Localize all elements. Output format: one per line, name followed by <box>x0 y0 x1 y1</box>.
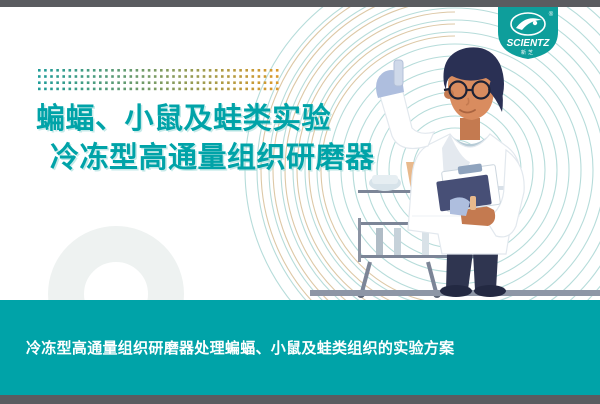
dot-grid-cell <box>264 88 267 91</box>
dot-grid-cell <box>62 75 65 78</box>
dot-grid-cell <box>111 81 114 84</box>
dot-grid-cell <box>239 75 242 78</box>
dot-grid-cell <box>142 81 145 84</box>
dot-grid-cell <box>178 81 181 84</box>
dot-grid-cell <box>142 69 145 72</box>
bottom-chrome-bar <box>0 395 600 404</box>
dot-grid-cell <box>50 88 53 91</box>
dot-grid-cell <box>154 75 157 78</box>
dot-grid-cell <box>136 88 139 91</box>
dot-grid-cell <box>81 88 84 91</box>
top-chrome-bar <box>0 0 600 7</box>
dot-grid-cell <box>142 75 145 78</box>
dot-grid-cell <box>178 69 181 72</box>
dot-grid-cell <box>93 81 96 84</box>
dot-grid-cell <box>142 88 145 91</box>
dot-grid-cell <box>50 69 53 72</box>
dot-grid-cell <box>154 69 157 72</box>
dot-grid-cell <box>160 75 163 78</box>
dot-grid-cell <box>111 88 114 91</box>
dot-grid-cell <box>276 69 279 72</box>
dot-grid-cell <box>75 88 78 91</box>
dot-grid-cell <box>178 75 181 78</box>
dot-grid-cell <box>44 81 47 84</box>
dot-grid-cell <box>172 75 175 78</box>
dot-grid-cell <box>50 75 53 78</box>
dot-grid-cell <box>227 88 230 91</box>
dot-grid-cell <box>136 69 139 72</box>
dot-grid-cell <box>166 88 169 91</box>
dot-grid-cell <box>209 69 212 72</box>
dot-grid-cell <box>130 75 133 78</box>
dot-grid-cell <box>191 69 194 72</box>
dot-grid-cell <box>166 69 169 72</box>
cart-leg-left <box>362 262 370 292</box>
dot-grid-cell <box>75 69 78 72</box>
vial-2 <box>394 228 401 255</box>
dot-grid-cell <box>191 88 194 91</box>
dot-grid-cell <box>81 81 84 84</box>
dot-grid-cell <box>221 69 224 72</box>
dot-grid-cell <box>75 75 78 78</box>
dot-grid-cell <box>209 81 212 84</box>
dot-grid <box>38 69 282 95</box>
dot-grid-cell <box>44 69 47 72</box>
banner-caption: 冷冻型高通量组织研磨器处理蝙蝠、小鼠及蛙类组织的实验方案 <box>0 337 454 358</box>
dot-grid-cell <box>130 69 133 72</box>
dot-grid-cell <box>215 69 218 72</box>
dot-grid-cell <box>56 75 59 78</box>
dot-grid-cell <box>270 81 273 84</box>
dot-grid-cell <box>215 75 218 78</box>
headline-line-2: 冷冻型高通量组织研磨器 <box>50 139 375 178</box>
dot-grid-cell <box>166 81 169 84</box>
dot-grid-cell <box>69 88 72 91</box>
dot-grid-cell <box>197 81 200 84</box>
dot-grid-cell <box>148 69 151 72</box>
dot-grid-cell <box>203 88 206 91</box>
dot-grid-cell <box>252 81 255 84</box>
dot-grid-cell <box>270 75 273 78</box>
dot-grid-cell <box>99 81 102 84</box>
dot-grid-cell <box>38 81 41 84</box>
dot-grid-cell <box>197 69 200 72</box>
page-title: 蝙蝠、小鼠及蛙类实验 冷冻型高通量组织研磨器 <box>36 100 375 178</box>
dot-grid-cell <box>87 75 90 78</box>
dot-grid-cell <box>56 88 59 91</box>
dot-grid-cell <box>123 88 126 91</box>
dot-grid-cell <box>160 88 163 91</box>
dot-grid-cell <box>245 75 248 78</box>
dot-grid-cell <box>136 81 139 84</box>
logo-registered-mark: ® <box>549 11 554 18</box>
logo-wordmark: SCIENTZ <box>507 38 551 49</box>
dot-grid-cell <box>93 88 96 91</box>
dot-grid-cell <box>62 81 65 84</box>
dot-grid-cell <box>197 88 200 91</box>
dot-grid-cell <box>117 75 120 78</box>
dot-grid-cell <box>105 75 108 78</box>
dot-grid-cell <box>62 88 65 91</box>
dot-grid-cell <box>252 88 255 91</box>
dot-grid-cell <box>276 81 279 84</box>
dot-grid-cell <box>203 69 206 72</box>
dot-grid-cell <box>184 75 187 78</box>
dot-grid-cell <box>99 88 102 91</box>
dish-lid <box>372 175 398 184</box>
dot-grid-cell <box>258 88 261 91</box>
dot-grid-cell <box>221 81 224 84</box>
dot-grid-cell <box>252 75 255 78</box>
dot-grid-cell <box>111 75 114 78</box>
dot-grid-cell <box>105 88 108 91</box>
headline-line-1: 蝙蝠、小鼠及蛙类实验 <box>36 100 375 139</box>
dot-grid-cell <box>227 75 230 78</box>
dot-grid-cell <box>56 69 59 72</box>
dot-grid-cell <box>105 81 108 84</box>
dot-grid-cell <box>184 88 187 91</box>
dot-grid-cell <box>99 69 102 72</box>
dot-grid-cell <box>270 88 273 91</box>
dot-grid-cell <box>75 81 78 84</box>
dot-grid-cell <box>172 88 175 91</box>
dot-grid-cell <box>87 69 90 72</box>
dot-grid-cell <box>172 69 175 72</box>
dot-grid-cell <box>111 69 114 72</box>
dot-grid-cell <box>81 75 84 78</box>
shoe-right <box>474 285 506 297</box>
dot-grid-cell <box>87 81 90 84</box>
dot-grid-cell <box>203 75 206 78</box>
dot-grid-cell <box>258 75 261 78</box>
dot-grid-cell <box>44 75 47 78</box>
dot-grid-cell <box>99 75 102 78</box>
dot-grid-cell <box>270 69 273 72</box>
dot-grid-cell <box>264 75 267 78</box>
scientist-figure <box>376 47 524 297</box>
dot-grid-cell <box>123 69 126 72</box>
dot-grid-cell <box>252 69 255 72</box>
dot-grid-cell <box>117 88 120 91</box>
vial-1 <box>376 228 383 255</box>
dot-grid-cell <box>239 69 242 72</box>
dot-grid-cell <box>172 81 175 84</box>
dot-grid-cell <box>221 75 224 78</box>
dot-grid-cell <box>233 69 236 72</box>
dot-grid-cell <box>191 75 194 78</box>
dot-grid-cell <box>178 88 181 91</box>
dot-grid-cell <box>123 81 126 84</box>
dot-grid-cell <box>130 81 133 84</box>
dot-grid-cell <box>166 75 169 78</box>
dot-grid-cell <box>160 69 163 72</box>
dot-grid-cell <box>117 81 120 84</box>
dot-grid-cell <box>245 69 248 72</box>
dot-grid-cell <box>38 75 41 78</box>
poster-root: 蝙蝠、小鼠及蛙类实验 冷冻型高通量组织研磨器 <box>0 0 600 404</box>
dot-grid-cell <box>264 81 267 84</box>
dot-grid-cell <box>38 69 41 72</box>
dot-grid-cell <box>50 81 53 84</box>
dot-grid-cell <box>203 81 206 84</box>
dot-grid-cell <box>130 88 133 91</box>
raised-arm-sleeve <box>380 88 434 148</box>
dot-grid-cell <box>233 81 236 84</box>
dot-grid-cell <box>93 69 96 72</box>
dot-grid-cell <box>239 81 242 84</box>
dot-grid-cell <box>148 81 151 84</box>
pen <box>470 196 476 210</box>
dot-grid-cell <box>264 69 267 72</box>
shoe-left <box>440 285 472 297</box>
scientz-logo[interactable]: SCIENTZ 新芝 ® <box>496 4 560 60</box>
dot-grid-cell <box>191 81 194 84</box>
dot-grid-cell <box>221 88 224 91</box>
dot-grid-cell <box>276 75 279 78</box>
dot-grid-cell <box>62 69 65 72</box>
dot-grid-cell <box>148 88 151 91</box>
dot-grid-cell <box>136 75 139 78</box>
dot-grid-cell <box>56 81 59 84</box>
dot-grid-cell <box>148 75 151 78</box>
bottom-banner: 冷冻型高通量组织研磨器处理蝙蝠、小鼠及蛙类组织的实验方案 <box>0 300 600 395</box>
cart-leg-right <box>428 262 436 292</box>
dot-grid-cell <box>117 69 120 72</box>
logo-subtext: 新芝 <box>521 49 535 56</box>
dot-grid-cell <box>209 75 212 78</box>
dot-grid-cell <box>69 81 72 84</box>
dot-grid-cell <box>245 81 248 84</box>
dot-grid-cell <box>209 88 212 91</box>
dot-grid-cell <box>105 69 108 72</box>
dot-grid-cell <box>245 88 248 91</box>
logo-svg: SCIENTZ 新芝 ® <box>496 4 560 60</box>
dot-grid-cell <box>239 88 242 91</box>
cart-post-left <box>358 218 361 262</box>
dot-grid-cell <box>123 75 126 78</box>
dot-grid-svg <box>38 69 282 95</box>
dot-grid-cell <box>215 88 218 91</box>
dot-grid-cell <box>93 75 96 78</box>
dot-grid-cell <box>258 69 261 72</box>
dot-grid-cell <box>227 81 230 84</box>
dot-grid-cell <box>233 88 236 91</box>
dot-grid-cell <box>215 81 218 84</box>
dot-grid-cell <box>184 81 187 84</box>
dot-grid-cell <box>44 88 47 91</box>
neck <box>460 118 480 140</box>
dot-grid-cell <box>258 81 261 84</box>
dot-grid-cell <box>197 75 200 78</box>
dot-grid-cell <box>81 69 84 72</box>
dot-grid-cell <box>87 88 90 91</box>
dot-grid-cell <box>233 75 236 78</box>
dot-grid-cell <box>69 75 72 78</box>
dot-grid-cell <box>154 81 157 84</box>
dot-grid-cell <box>276 88 279 91</box>
dot-grid-cell <box>69 69 72 72</box>
dot-grid-cell <box>160 81 163 84</box>
dot-grid-cell <box>154 88 157 91</box>
test-tube <box>394 60 403 86</box>
dot-grid-cell <box>184 69 187 72</box>
dot-grid-cell <box>227 69 230 72</box>
dot-grid-cell <box>38 88 41 91</box>
